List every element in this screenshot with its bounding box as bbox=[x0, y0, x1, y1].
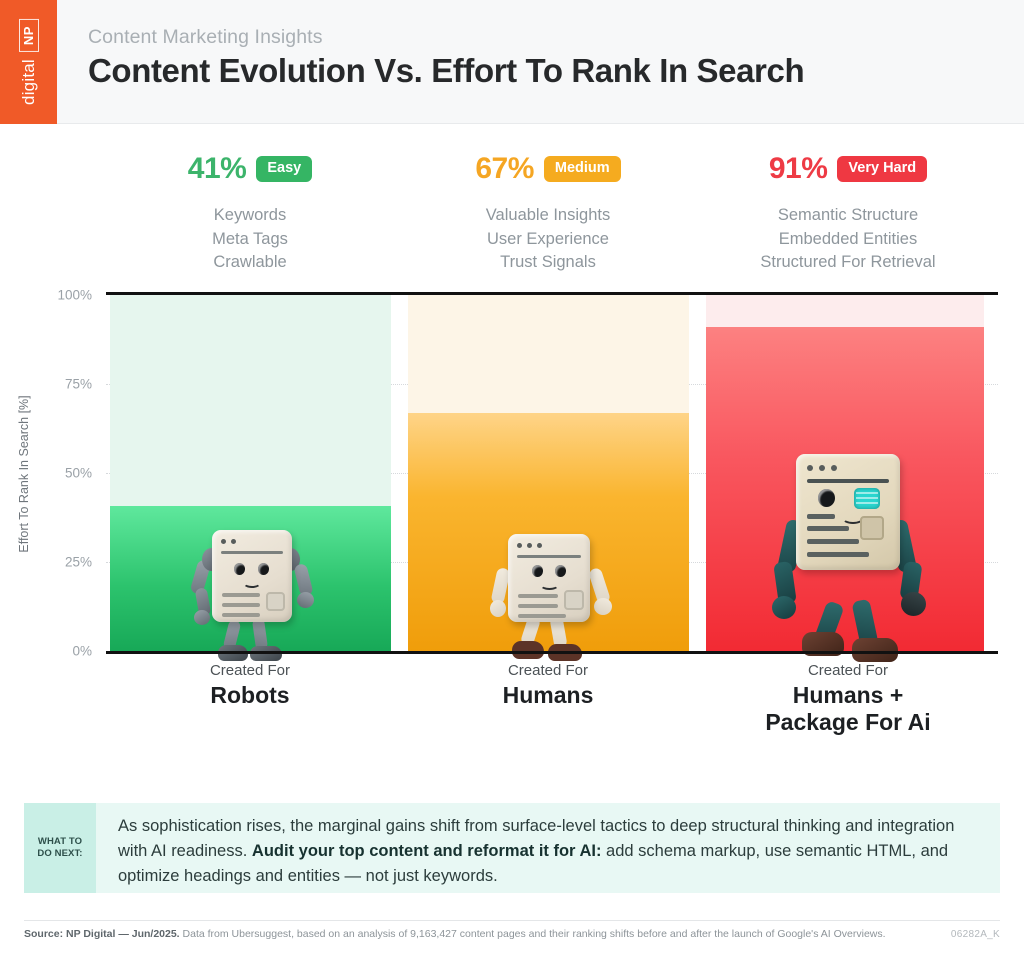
cyborg-right-shoe bbox=[852, 638, 898, 662]
character-robot bbox=[192, 512, 312, 662]
bullet-item: Valuable Insights bbox=[408, 204, 688, 228]
robot-window-dots bbox=[221, 539, 236, 544]
bar-chart: Effort To Rank In Search [%] 100% 75% 50… bbox=[0, 289, 1024, 659]
robot-left-hand bbox=[194, 610, 210, 625]
robot-smile bbox=[243, 578, 261, 588]
bullet-item: Keywords bbox=[110, 204, 390, 228]
column-headers: 41% Easy Keywords Meta Tags Crawlable 67… bbox=[0, 124, 1024, 289]
cyborg-left-hand bbox=[772, 596, 796, 619]
bar-column-humans-ai[interactable] bbox=[706, 295, 984, 652]
human-smile bbox=[540, 580, 559, 590]
x-label-humans: Created For Humans bbox=[408, 662, 688, 709]
human-thumbnail bbox=[564, 590, 584, 610]
source-note: Source: NP Digital — Jun/2025. Data from… bbox=[24, 928, 886, 940]
y-tick-0: 0% bbox=[14, 644, 92, 659]
callout-tag: WHAT TO DO NEXT: bbox=[24, 803, 96, 893]
character-cyborg-doc bbox=[768, 424, 928, 662]
callout-text: As sophistication rises, the marginal ga… bbox=[96, 803, 1000, 893]
human-right-hand bbox=[594, 598, 612, 615]
callout-tag-line2: DO NEXT: bbox=[37, 848, 82, 859]
callout-box: WHAT TO DO NEXT: As sophistication rises… bbox=[24, 803, 1000, 893]
source-detail: Data from Ubersuggest, based on an analy… bbox=[180, 928, 886, 940]
bullet-list-3: Semantic Structure Embedded Entities Str… bbox=[708, 204, 988, 275]
infographic-page: digital NP Content Marketing Insights Co… bbox=[0, 0, 1024, 956]
human-document-body bbox=[508, 534, 590, 622]
column-header-humans-ai: 91% Very Hard Semantic Structure Embedde… bbox=[708, 152, 988, 275]
percent-value-2: 67% bbox=[475, 152, 534, 186]
y-tick-100: 100% bbox=[14, 288, 92, 303]
robot-header-line bbox=[221, 551, 283, 554]
bullet-item: Embedded Entities bbox=[708, 228, 988, 252]
y-tick-25: 25% bbox=[14, 555, 92, 570]
bullet-item: Semantic Structure bbox=[708, 204, 988, 228]
cyborg-thumbnail bbox=[860, 516, 884, 540]
cyborg-header-line bbox=[807, 479, 889, 483]
logo-np-mark: NP bbox=[19, 19, 39, 52]
bullet-list-1: Keywords Meta Tags Crawlable bbox=[110, 204, 390, 275]
bullet-list-2: Valuable Insights User Experience Trust … bbox=[408, 204, 688, 275]
difficulty-badge-3: Very Hard bbox=[837, 156, 927, 182]
human-window-dots bbox=[517, 543, 542, 548]
x-label-robots: Created For Robots bbox=[110, 662, 390, 709]
source-label: Source: NP Digital — Jun/2025. bbox=[24, 928, 180, 940]
robot-right-hand bbox=[297, 592, 314, 608]
cyborg-screen-eye bbox=[854, 488, 880, 509]
percent-value-1: 41% bbox=[188, 152, 247, 186]
cyborg-left-eye bbox=[818, 489, 835, 507]
robot-right-eye bbox=[258, 563, 269, 575]
difficulty-badge-2: Medium bbox=[544, 156, 621, 182]
human-left-shoe bbox=[512, 641, 544, 659]
robot-left-eye bbox=[234, 563, 245, 575]
x-label-humans-ai: Created For Humans + Package For Ai bbox=[708, 662, 988, 736]
bullet-item: Crawlable bbox=[110, 251, 390, 275]
human-right-eye bbox=[555, 565, 566, 577]
callout-text-bold: Audit your top content and reformat it f… bbox=[252, 842, 602, 860]
human-left-eye bbox=[532, 565, 543, 577]
plot-area bbox=[96, 292, 998, 654]
cyborg-window-dots bbox=[807, 465, 837, 471]
y-tick-50: 50% bbox=[14, 466, 92, 481]
page-title: Content Evolution Vs. Effort To Rank In … bbox=[88, 53, 804, 90]
bar-column-robots[interactable] bbox=[110, 295, 391, 652]
bullet-item: Meta Tags bbox=[110, 228, 390, 252]
difficulty-badge-1: Easy bbox=[256, 156, 312, 182]
cyborg-right-hand bbox=[901, 592, 926, 616]
y-tick-75: 75% bbox=[14, 377, 92, 392]
cyborg-document-body bbox=[796, 454, 900, 570]
human-header-line bbox=[517, 555, 581, 558]
bullet-item: User Experience bbox=[408, 228, 688, 252]
character-human-doc bbox=[488, 512, 610, 662]
logo-wordmark: digital bbox=[19, 59, 39, 105]
kicker-text: Content Marketing Insights bbox=[88, 26, 804, 49]
bullet-item: Structured For Retrieval bbox=[708, 251, 988, 275]
axis-line-bottom bbox=[106, 651, 998, 654]
header: digital NP Content Marketing Insights Co… bbox=[0, 0, 1024, 124]
robot-thumbnail bbox=[266, 592, 285, 611]
bar-column-humans[interactable] bbox=[408, 295, 689, 652]
robot-document-body bbox=[212, 530, 292, 622]
callout-tag-line1: WHAT TO bbox=[38, 836, 82, 847]
human-left-hand bbox=[490, 600, 506, 617]
np-digital-logo: digital NP bbox=[0, 0, 57, 124]
bullet-item: Trust Signals bbox=[408, 251, 688, 275]
footer: Source: NP Digital — Jun/2025. Data from… bbox=[24, 920, 1000, 940]
footer-code: 06282A_K bbox=[951, 929, 1000, 940]
percent-value-3: 91% bbox=[769, 152, 828, 186]
axis-line-top bbox=[106, 292, 998, 295]
column-header-humans: 67% Medium Valuable Insights User Experi… bbox=[408, 152, 688, 275]
column-header-robots: 41% Easy Keywords Meta Tags Crawlable bbox=[110, 152, 390, 275]
